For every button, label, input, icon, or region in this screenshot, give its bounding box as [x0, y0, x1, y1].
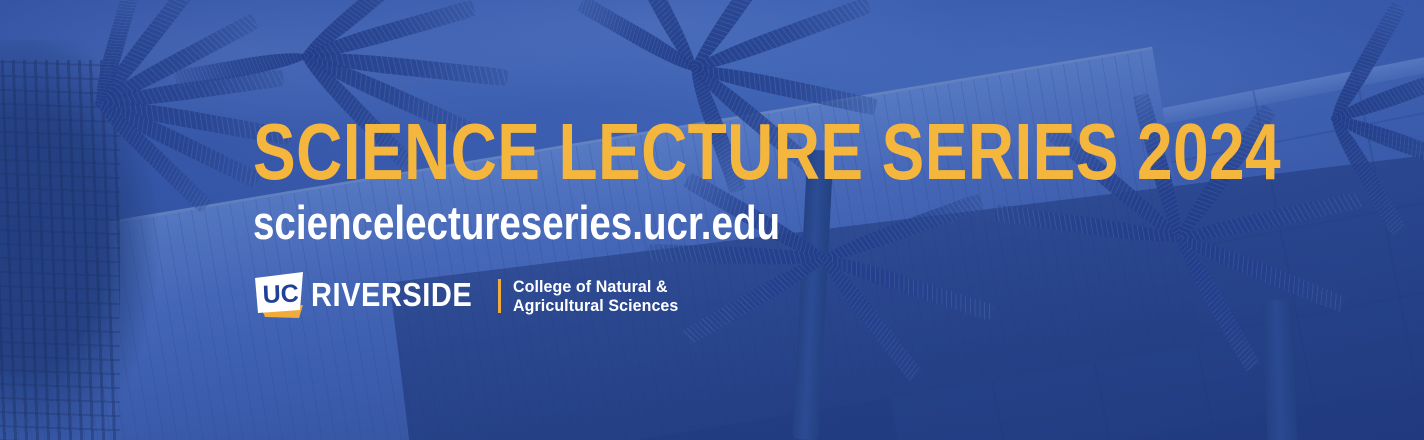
palm-tree-trunk-right	[1262, 300, 1297, 440]
college-name-line-1: College of Natural &	[513, 277, 678, 296]
website-url[interactable]: sciencelectureseries.ucr.edu	[253, 199, 780, 246]
college-name: College of Natural & Agricultural Scienc…	[513, 277, 678, 315]
ucr-wordmark: RIVERSIDE	[311, 278, 472, 314]
page-title: SCIENCE LECTURE SERIES 2024	[253, 112, 1281, 192]
science-lecture-series-banner: SCIENCE LECTURE SERIES 2024 sciencelectu…	[0, 0, 1424, 440]
uc-shield-icon: UC	[253, 270, 305, 322]
logo-divider	[498, 279, 501, 313]
college-name-line-2: Agricultural Sciences	[513, 296, 678, 315]
ucr-logo-lockup[interactable]: UC RIVERSIDE College of Natural & Agricu…	[253, 268, 689, 324]
svg-text:UC: UC	[262, 280, 299, 309]
palm-trunk-texture-left	[0, 60, 120, 440]
